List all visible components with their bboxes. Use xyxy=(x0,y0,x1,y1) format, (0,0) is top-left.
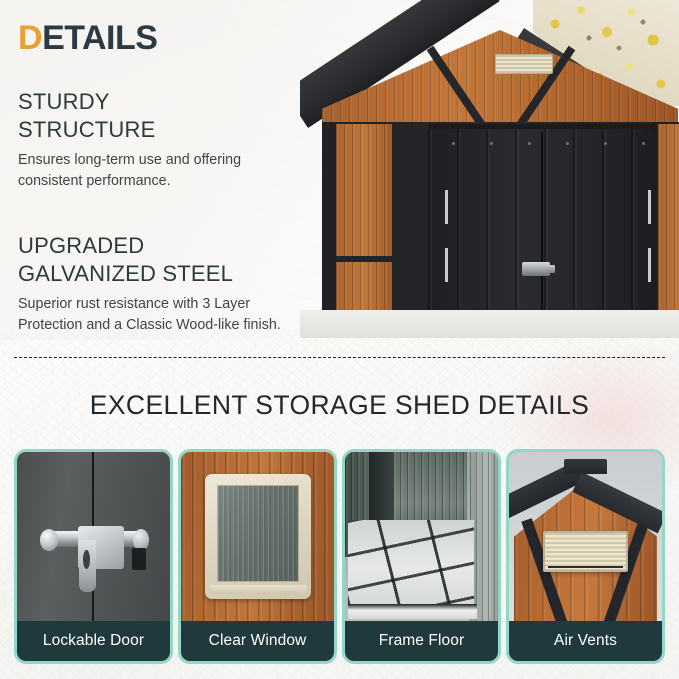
feature-card-clear-window[interactable]: Clear Window xyxy=(178,449,337,664)
page-title-rest: ETAILS xyxy=(42,19,157,57)
product-photo-storage-shed xyxy=(300,0,679,338)
slide-bolt-knob-icon xyxy=(40,529,58,551)
shed-rivet xyxy=(604,142,607,145)
feature-card-grid: Lockable Door Clear Window xyxy=(14,449,665,664)
feature-title: STURDY STRUCTURE xyxy=(18,88,274,143)
door-panels xyxy=(17,452,170,621)
gable-roof-ridge xyxy=(564,459,607,474)
feature-description: Ensures long-term use and offering consi… xyxy=(18,150,274,191)
feature-card-frame-floor[interactable]: Frame Floor xyxy=(342,449,501,664)
card-label: Frame Floor xyxy=(345,621,498,661)
window-sill xyxy=(210,585,307,594)
feature-title: UPGRADED GALVANIZED STEEL xyxy=(18,232,308,287)
page-title: DETAILS xyxy=(18,21,157,55)
lock-stopper-icon xyxy=(132,548,146,570)
shed-interior xyxy=(345,452,498,621)
shed-rivet xyxy=(566,142,569,145)
feature-title-line2: GALVANIZED STEEL xyxy=(18,260,308,288)
shed-rivet xyxy=(452,142,455,145)
card-label: Air Vents xyxy=(509,621,662,661)
shed-rivet xyxy=(528,142,531,145)
shed-side-wood-panel-left xyxy=(336,124,392,338)
feature-title-line1: STURDY xyxy=(18,88,274,116)
shed-rivet xyxy=(642,142,645,145)
card-label: Lockable Door xyxy=(17,621,170,661)
shed-door-latch-icon xyxy=(522,262,550,276)
floor-threshold xyxy=(348,604,477,619)
shed-door-hinge-icon xyxy=(445,248,448,282)
feature-block-upgraded-galvanized-steel: UPGRADED GALVANIZED STEEL Superior rust … xyxy=(18,232,308,335)
infographic-page: DETAILS STURDY STRUCTURE Ensures long-te… xyxy=(0,0,679,679)
feature-description: Superior rust resistance with 3 Layer Pr… xyxy=(18,294,308,335)
card-image-clear-window xyxy=(181,452,334,621)
shed-side-trim xyxy=(336,256,392,262)
feature-card-lockable-door[interactable]: Lockable Door xyxy=(14,449,173,664)
shed-door-seam xyxy=(541,132,543,338)
feature-title-line2: STRUCTURE xyxy=(18,116,274,144)
shed-rivet xyxy=(490,142,493,145)
card-image-frame-floor xyxy=(345,452,498,621)
metal-frame-floor xyxy=(348,520,473,608)
feature-block-sturdy-structure: STURDY STRUCTURE Ensures long-term use a… xyxy=(18,88,274,191)
feature-card-air-vents[interactable]: Air Vents xyxy=(506,449,665,664)
page-title-first-letter: D xyxy=(18,19,42,57)
card-image-air-vents xyxy=(509,452,662,621)
shed-door-hinge-icon xyxy=(648,248,651,282)
interior-right-wall xyxy=(470,452,498,621)
shed-side-wood-panel-right xyxy=(658,124,679,338)
card-label: Clear Window xyxy=(181,621,334,661)
photo-ground xyxy=(300,310,679,338)
section-heading: EXCELLENT STORAGE SHED DETAILS xyxy=(0,390,679,421)
shed-door-hinge-icon xyxy=(648,190,651,224)
card-image-lockable-door xyxy=(17,452,170,621)
wood-look-wall xyxy=(181,452,334,621)
window-glass xyxy=(217,485,299,581)
shed-gable-view xyxy=(509,452,662,621)
padlock-hole-icon xyxy=(83,550,90,569)
feature-title-line1: UPGRADED xyxy=(18,232,308,260)
dashed-divider xyxy=(14,357,665,358)
shed-gable-air-vent-icon xyxy=(495,54,553,74)
window-frame xyxy=(205,474,311,599)
louvered-air-vent-icon xyxy=(543,531,629,572)
shed-door-hinge-icon xyxy=(445,190,448,224)
